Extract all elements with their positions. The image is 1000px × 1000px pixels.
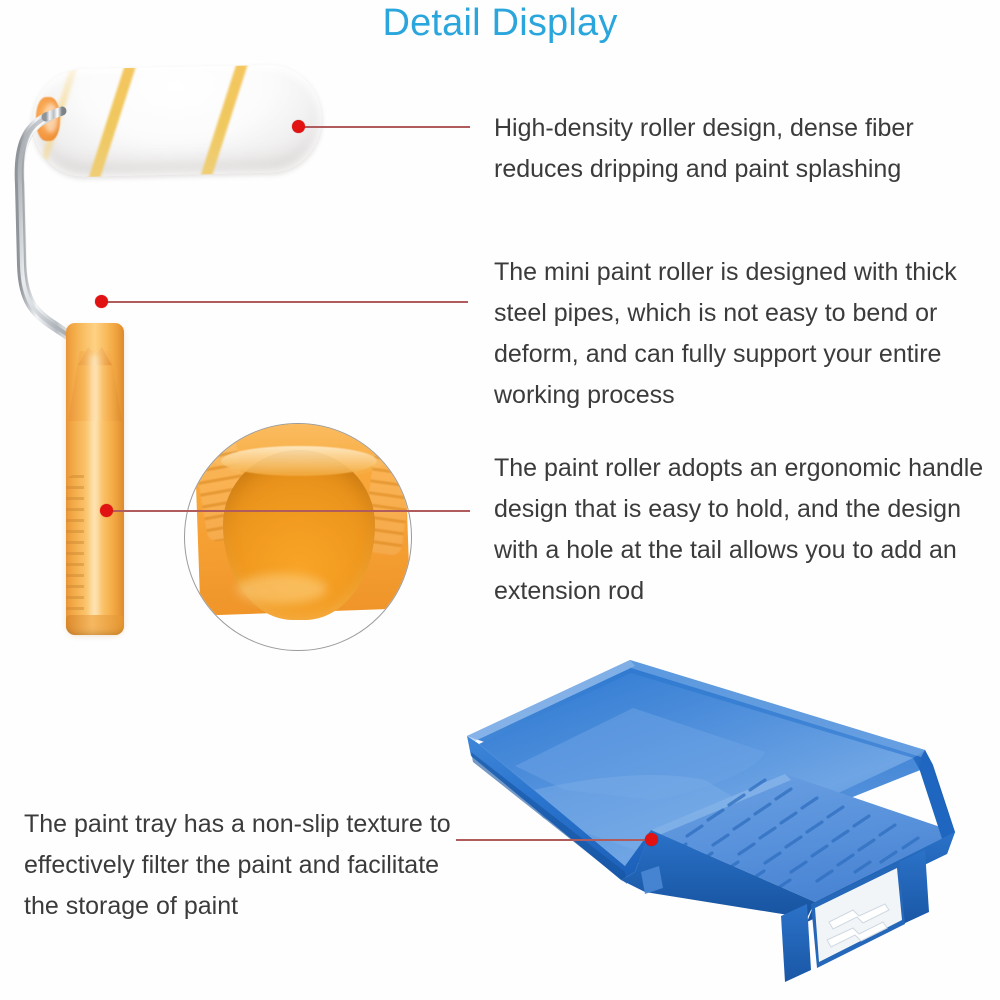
feature-text-steel-pipe: The mini paint roller is designed with t… xyxy=(494,252,994,416)
feature-text-ergonomic-handle: The paint roller adopts an ergonomic han… xyxy=(494,448,994,612)
callout-dot-steel-pipe[interactable] xyxy=(95,295,108,308)
callout-dot-handle[interactable] xyxy=(100,504,113,517)
handle-tail-magnifier xyxy=(184,423,412,651)
feature-text-paint-tray: The paint tray has a non-slip texture to… xyxy=(24,804,454,927)
handle-tail-highlight xyxy=(237,574,327,604)
page-title: Detail Display xyxy=(0,2,1000,45)
roller-handle-grip-ridges xyxy=(66,475,84,625)
handle-tail-hole-lip xyxy=(221,446,377,476)
callout-line-tray xyxy=(456,839,654,841)
detail-display-page: Detail Display xyxy=(0,0,1000,1000)
tray-leg-left xyxy=(781,904,811,982)
callout-line-roller xyxy=(298,126,470,128)
feature-text-roller-nap: High-density roller design, dense fiber … xyxy=(494,108,994,190)
paint-tray-illustration xyxy=(455,640,1000,1000)
roller-handle-tail xyxy=(66,615,124,635)
callout-dot-roller[interactable] xyxy=(292,120,305,133)
callout-line-handle xyxy=(108,510,470,512)
roller-handle-highlight xyxy=(88,355,101,623)
callout-dot-tray[interactable] xyxy=(645,833,658,846)
callout-line-steel-pipe xyxy=(100,301,468,303)
paint-tray-image xyxy=(455,640,1000,1000)
